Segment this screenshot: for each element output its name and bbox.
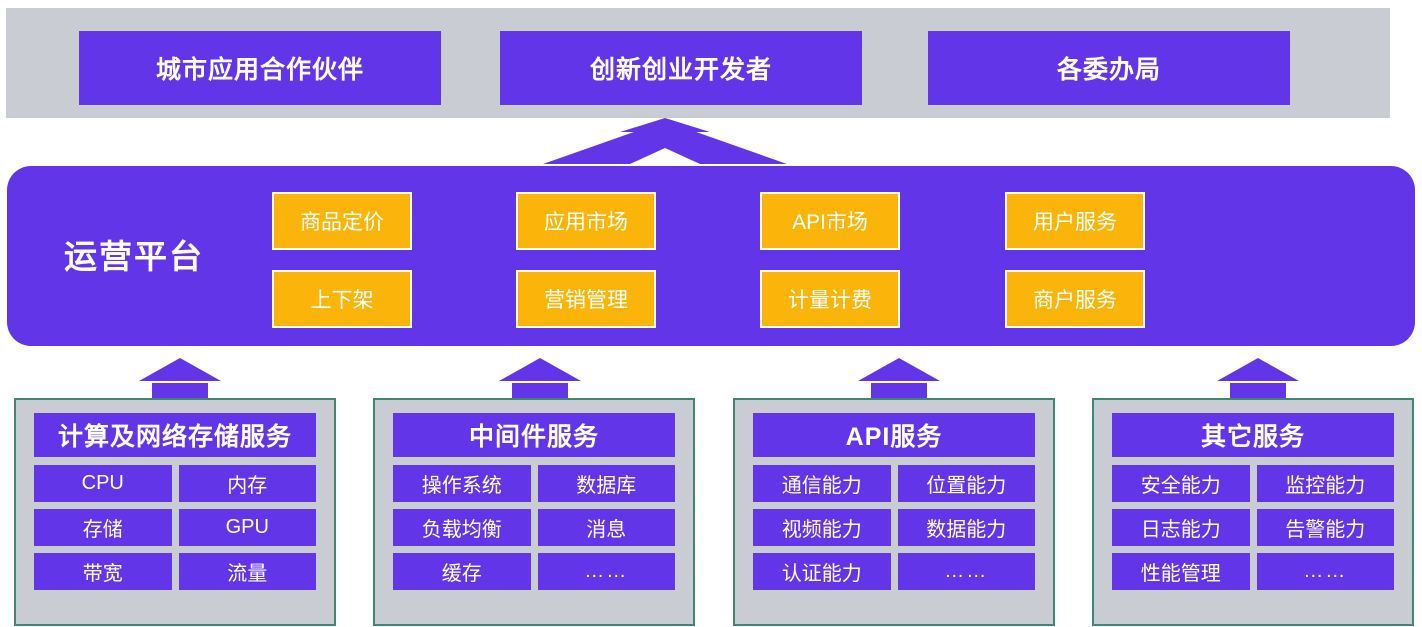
up-arrow-icon-middleware (499, 358, 581, 398)
service-panel-title: 其它服务 (1112, 413, 1394, 457)
platform-module-pricing[interactable]: 商品定价 (272, 192, 412, 250)
service-panel-compute: 计算及网络存储服务 CPU 内存 存储 GPU 带宽 流量 (14, 398, 336, 626)
platform-module-metering-billing[interactable]: 计量计费 (760, 270, 900, 328)
consumer-box-city-partner[interactable]: 城市应用合作伙伴 (79, 31, 441, 105)
big-up-arrow-icon (540, 116, 790, 170)
platform-title: 运营平台 (29, 230, 239, 278)
service-item[interactable]: CPU (34, 465, 172, 502)
consumer-box-government[interactable]: 各委办局 (928, 31, 1290, 105)
service-item[interactable]: 流量 (179, 553, 317, 590)
platform-module-user-service[interactable]: 用户服务 (1005, 192, 1145, 250)
service-panel-other: 其它服务 安全能力 监控能力 日志能力 告警能力 性能管理 …… (1092, 398, 1414, 626)
consumer-box-developer[interactable]: 创新创业开发者 (500, 31, 862, 105)
consumer-band: 城市应用合作伙伴 创新创业开发者 各委办局 (6, 8, 1390, 118)
up-arrow-icon-api (858, 358, 940, 398)
platform-module-merchant-service[interactable]: 商户服务 (1005, 270, 1145, 328)
service-item[interactable]: 消息 (538, 509, 676, 546)
service-panel-api: API服务 通信能力 位置能力 视频能力 数据能力 认证能力 …… (733, 398, 1055, 626)
service-item[interactable]: 负载均衡 (393, 509, 531, 546)
service-panel-middleware: 中间件服务 操作系统 数据库 负载均衡 消息 缓存 …… (373, 398, 695, 626)
consumer-label: 各委办局 (1057, 50, 1161, 86)
service-item[interactable]: 带宽 (34, 553, 172, 590)
service-item[interactable]: GPU (179, 509, 317, 546)
service-item[interactable]: 告警能力 (1257, 509, 1395, 546)
service-item[interactable]: 日志能力 (1112, 509, 1250, 546)
up-arrow-icon-other (1217, 358, 1299, 398)
up-arrow-icon-compute (139, 358, 221, 398)
service-item[interactable]: 数据能力 (898, 509, 1036, 546)
service-panel-title: 计算及网络存储服务 (34, 413, 316, 457)
service-item[interactable]: 缓存 (393, 553, 531, 590)
service-item-more[interactable]: …… (1257, 553, 1395, 590)
platform-module-marketing[interactable]: 营销管理 (516, 270, 656, 328)
service-item[interactable]: 数据库 (538, 465, 676, 502)
service-item-grid: 通信能力 位置能力 视频能力 数据能力 认证能力 …… (753, 465, 1035, 590)
service-item-more[interactable]: …… (538, 553, 676, 590)
service-item[interactable]: 监控能力 (1257, 465, 1395, 502)
platform-module-listing[interactable]: 上下架 (272, 270, 412, 328)
module-label: 计量计费 (788, 284, 872, 314)
service-item[interactable]: 视频能力 (753, 509, 891, 546)
service-item-grid: CPU 内存 存储 GPU 带宽 流量 (34, 465, 316, 590)
operations-platform: 运营平台 商品定价 应用市场 API市场 用户服务 上下架 营销管理 计量计费 … (7, 166, 1415, 346)
service-item[interactable]: 安全能力 (1112, 465, 1250, 502)
architecture-diagram: 城市应用合作伙伴 创新创业开发者 各委办局 运营平台 商品定价 应用市场 API… (0, 0, 1422, 627)
service-item[interactable]: 认证能力 (753, 553, 891, 590)
module-label: 商品定价 (300, 206, 384, 236)
service-panel-title: API服务 (753, 413, 1035, 457)
service-panel-title: 中间件服务 (393, 413, 675, 457)
service-item[interactable]: 位置能力 (898, 465, 1036, 502)
service-item[interactable]: 内存 (179, 465, 317, 502)
service-item-grid: 操作系统 数据库 负载均衡 消息 缓存 …… (393, 465, 675, 590)
service-item[interactable]: 存储 (34, 509, 172, 546)
service-item[interactable]: 通信能力 (753, 465, 891, 502)
module-label: 上下架 (311, 284, 374, 314)
service-item-more[interactable]: …… (898, 553, 1036, 590)
platform-module-api-market[interactable]: API市场 (760, 192, 900, 250)
service-item[interactable]: 性能管理 (1112, 553, 1250, 590)
consumer-label: 城市应用合作伙伴 (156, 50, 364, 86)
module-label: 商户服务 (1033, 284, 1117, 314)
consumer-label: 创新创业开发者 (590, 50, 772, 86)
module-label: 营销管理 (544, 284, 628, 314)
module-label: 用户服务 (1033, 206, 1117, 236)
module-label: 应用市场 (544, 206, 628, 236)
service-item-grid: 安全能力 监控能力 日志能力 告警能力 性能管理 …… (1112, 465, 1394, 590)
platform-module-app-market[interactable]: 应用市场 (516, 192, 656, 250)
service-item[interactable]: 操作系统 (393, 465, 531, 502)
module-label: API市场 (792, 206, 868, 236)
